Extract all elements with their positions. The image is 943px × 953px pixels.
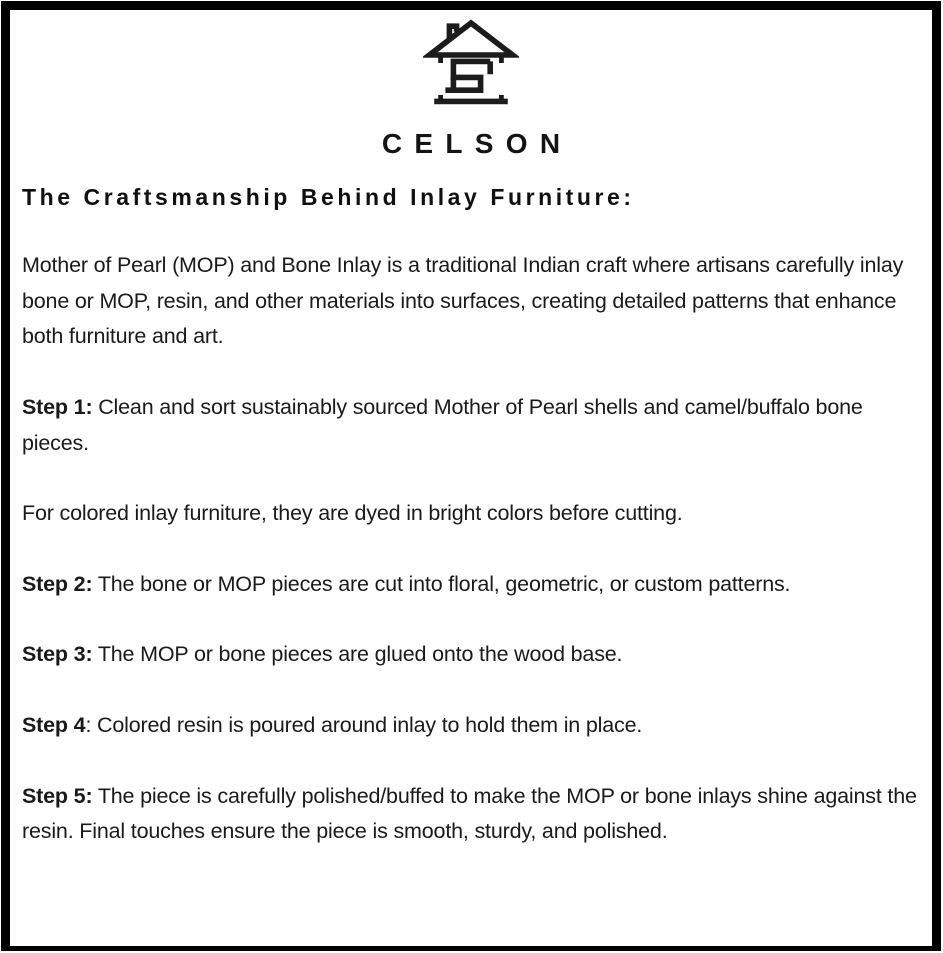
document-content: The Craftsmanship Behind Inlay Furniture…: [16, 185, 926, 850]
paragraph-step-4: Step 4: Colored resin is poured around i…: [22, 708, 922, 744]
poster-frame: CELSON The Craftsmanship Behind Inlay Fu…: [1, 1, 941, 951]
paragraph-step-3: Step 3: The MOP or bone pieces are glued…: [22, 637, 922, 673]
document-body: Mother of Pearl (MOP) and Bone Inlay is …: [22, 248, 922, 850]
step-2-text: The bone or MOP pieces are cut into flor…: [92, 572, 790, 596]
paragraph-step-1: Step 1: Clean and sort sustainably sourc…: [22, 390, 922, 461]
paragraph-intro-text: Mother of Pearl (MOP) and Bone Inlay is …: [22, 253, 903, 348]
poster-inner: CELSON The Craftsmanship Behind Inlay Fu…: [10, 10, 932, 946]
step-3-text: The MOP or bone pieces are glued onto th…: [92, 642, 622, 666]
step-4-text: Colored resin is poured around inlay to …: [91, 713, 642, 737]
paragraph-intro: Mother of Pearl (MOP) and Bone Inlay is …: [22, 248, 922, 355]
step-4-label: Step 4: [22, 713, 85, 737]
brand-header: CELSON: [16, 14, 926, 158]
step-1-label: Step 1:: [22, 395, 92, 419]
house-monogram-logo-icon: [423, 18, 519, 116]
step-2-label: Step 2:: [22, 572, 92, 596]
poster-root: CELSON The Craftsmanship Behind Inlay Fu…: [0, 0, 943, 953]
dye-note-text: For colored inlay furniture, they are dy…: [22, 501, 683, 525]
paragraph-dye-note: For colored inlay furniture, they are dy…: [22, 496, 922, 532]
step-1-text: Clean and sort sustainably sourced Mothe…: [22, 395, 863, 455]
paragraph-step-5: Step 5: The piece is carefully polished/…: [22, 779, 922, 850]
page-title: The Craftsmanship Behind Inlay Furniture…: [22, 185, 922, 210]
paragraph-step-2: Step 2: The bone or MOP pieces are cut i…: [22, 567, 922, 603]
brand-wordmark: CELSON: [16, 130, 926, 158]
step-5-text: The piece is carefully polished/buffed t…: [22, 784, 917, 844]
step-5-label: Step 5:: [22, 784, 92, 808]
step-3-label: Step 3:: [22, 642, 92, 666]
